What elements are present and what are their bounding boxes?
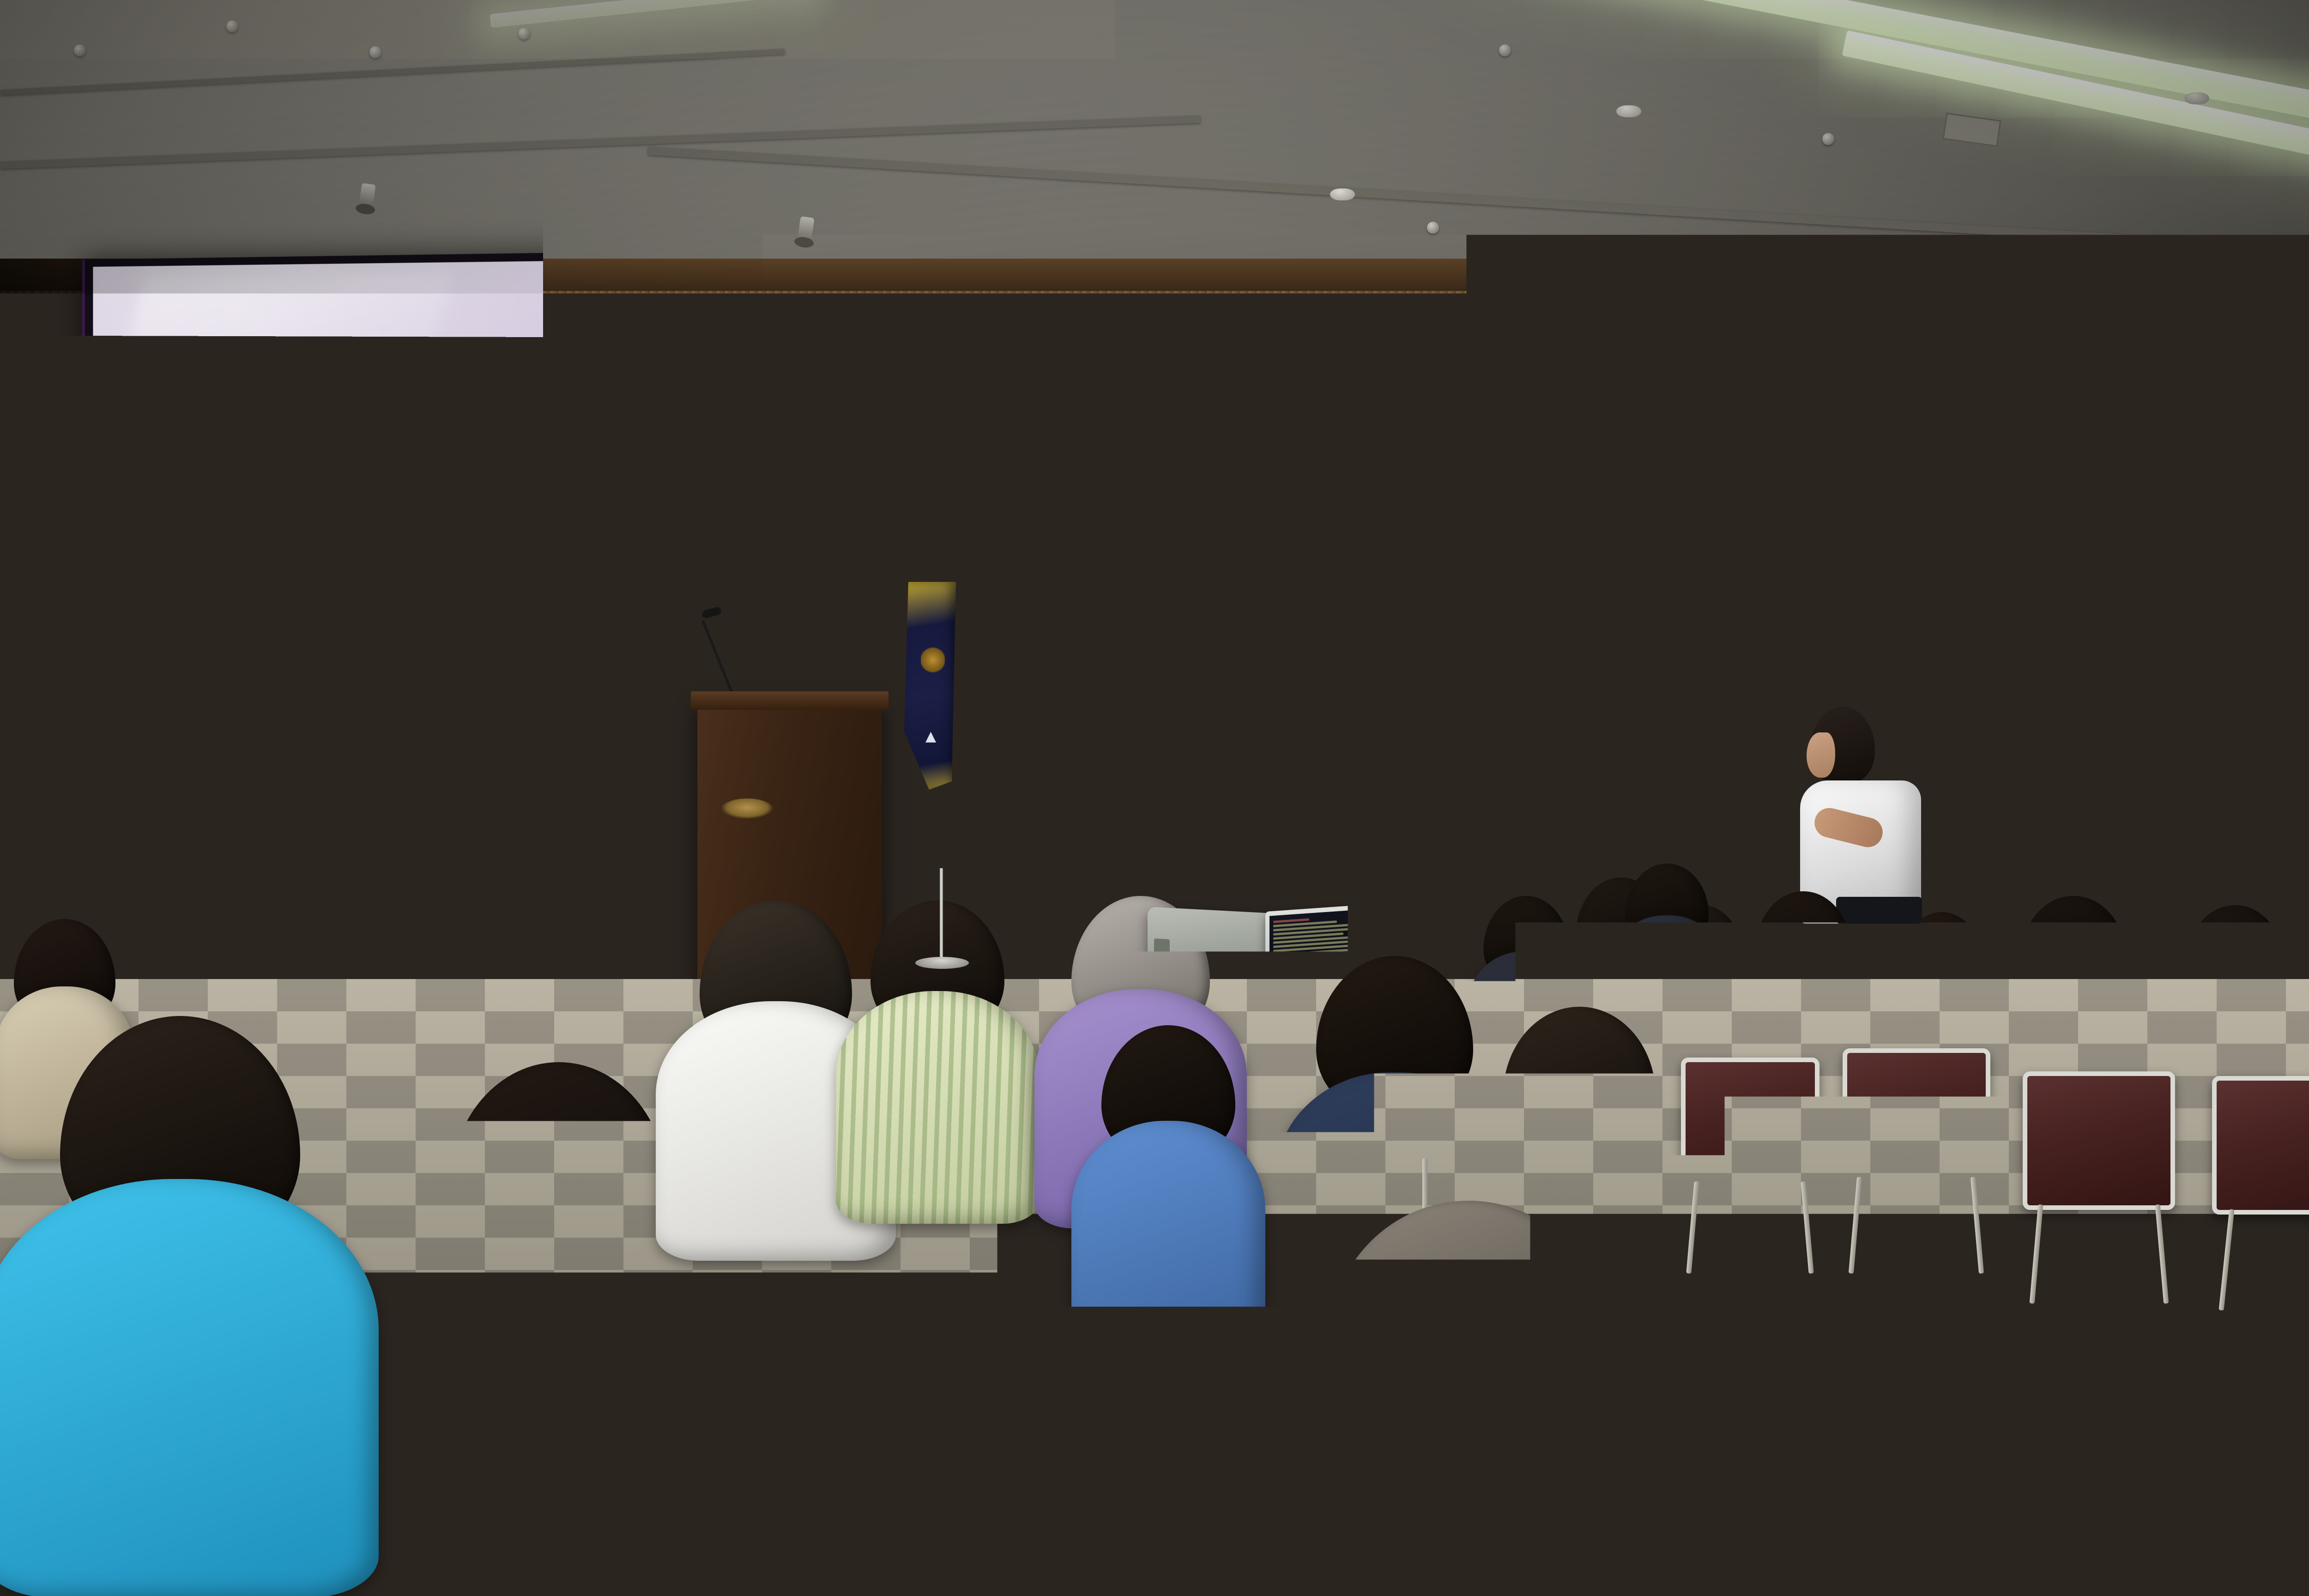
screen-glare <box>115 272 452 396</box>
chair-back <box>259 1441 610 1596</box>
av-operator <box>1118 965 1321 1150</box>
sprinkler-head-6 <box>1822 133 1834 145</box>
floor-mic-stand-base <box>915 957 969 969</box>
ceiling-beam-3 <box>0 49 785 96</box>
slide-article-label: 제8조 (명칭) <box>121 384 199 403</box>
sprinkler-head-1 <box>74 44 86 56</box>
presenter-face <box>1807 732 1835 778</box>
chair[interactable] <box>259 1441 610 1596</box>
ceiling <box>0 0 2309 296</box>
fluorescent-light-3 <box>490 0 812 28</box>
flag-emblem-icon <box>921 647 945 673</box>
auditorium-photo: ASHLY 제8조 (명칭) ① 의용소방대의 명칭은 다음과 같다. 1. 시… <box>0 0 2309 1596</box>
podium-microphone-head <box>1769 780 1784 787</box>
sprinkler-head-4 <box>518 28 530 40</box>
flag-finial <box>923 558 937 574</box>
smoke-detector-1 <box>1616 105 1641 117</box>
smoke-detector-3 <box>1330 188 1355 200</box>
ceiling-beam-2 <box>648 146 2309 259</box>
chair[interactable] <box>2212 1076 2309 1215</box>
air-vent <box>1943 113 2001 147</box>
head <box>1127 965 1312 1131</box>
track-light-2 <box>797 216 814 243</box>
floor-mic-stand-pole <box>940 868 943 965</box>
fire-service-emblem-icon <box>721 798 773 819</box>
chair[interactable] <box>1829 1413 2143 1596</box>
sprinkler-head-7 <box>1427 222 1439 234</box>
sprinkler-head-5 <box>1499 44 1511 56</box>
chair-back <box>2212 1076 2309 1215</box>
chair[interactable] <box>1076 1367 1362 1596</box>
track-light-1 <box>358 183 375 210</box>
chair-back <box>1829 1413 2143 1596</box>
lectern-top <box>691 691 889 710</box>
chair-back <box>1076 1367 1362 1596</box>
ceiling-beam-1 <box>0 115 1201 169</box>
sprinkler-head-2 <box>226 20 238 32</box>
slide-content: 제8조 (명칭) ① 의용소방대의 명칭은 다음과 같다. 1. 시지역 : 춘… <box>114 378 671 598</box>
door-seam <box>1427 672 1429 938</box>
projection-screen: 제8조 (명칭) ① 의용소방대의 명칭은 다음과 같다. 1. 시지역 : 춘… <box>82 251 692 771</box>
flag-mark-icon: ▲ <box>925 731 938 743</box>
wall-speaker: ASHLY <box>2121 399 2180 552</box>
sprinkler-head-3 <box>369 46 381 58</box>
smoke-detector-2 <box>2184 92 2209 104</box>
wall-pillar <box>2078 383 2118 928</box>
speaker-brand-label: ASHLY <box>2140 534 2160 544</box>
screen-surface: 제8조 (명칭) ① 의용소방대의 명칭은 다음과 같다. 1. 시지역 : 춘… <box>93 260 683 762</box>
